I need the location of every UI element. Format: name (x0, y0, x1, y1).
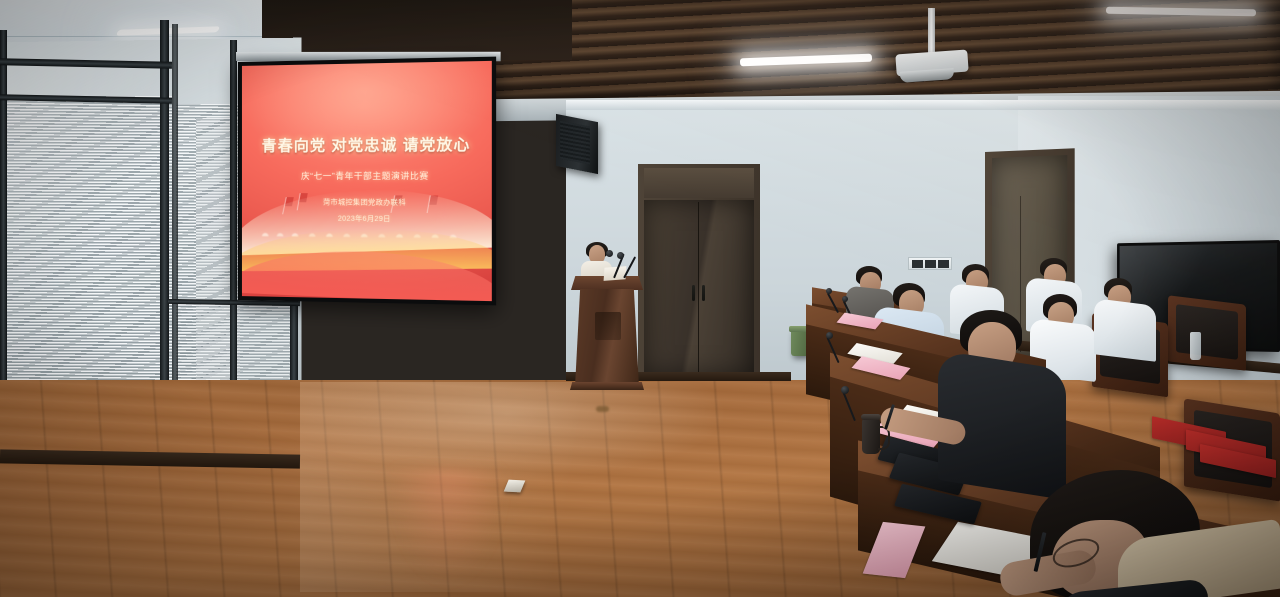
meeting-room-photo: 青春向党 对党忠诚 请党放心 庆“七一”青年干部主题演讲比赛 菏市城控集团党政办… (0, 0, 1280, 597)
projected-slide: 青春向党 对党忠诚 请党放心 庆“七一”青年干部主题演讲比赛 菏市城控集团党政办… (242, 61, 492, 301)
desk-mic-capsule-1 (826, 288, 832, 294)
podium-mic-capsule-2 (617, 252, 624, 259)
door-handle-right[interactable] (702, 285, 705, 301)
projection-screen: 青春向党 对党忠诚 请党放心 庆“七一”青年干部主题演讲比赛 菏市城控集团党政办… (238, 57, 496, 306)
door-center-seam (698, 202, 699, 374)
water-bottle (1190, 332, 1201, 360)
outlet-socket-1 (912, 260, 923, 268)
wall-top-strip (566, 100, 1280, 110)
slide-organization: 菏市城控集团党政办联科 (242, 197, 492, 208)
slide-date: 2023年6月29日 (242, 213, 492, 225)
chair-right-1-pad (1176, 304, 1238, 360)
person-8-torso (1094, 298, 1156, 362)
desk-mic-capsule-3 (826, 332, 833, 339)
slide-subtitle: 庆“七一”青年干部主题演讲比赛 (242, 169, 492, 182)
wall-speaker (556, 114, 598, 174)
podium-mic-capsule (606, 250, 613, 257)
desk-mic-capsule-2 (842, 296, 848, 302)
slide-title: 青春向党 对党忠诚 请党放心 (242, 133, 492, 156)
double-door[interactable] (644, 200, 754, 376)
door-transom (644, 168, 754, 198)
thermos-lid (861, 414, 881, 420)
podium-base (570, 382, 644, 390)
projector-mount-pole (928, 8, 935, 54)
desk-mic-capsule-4 (841, 386, 849, 394)
outlet-socket-3 (938, 260, 949, 268)
outlet-socket-2 (925, 260, 936, 268)
slide-glow (242, 61, 492, 177)
wall-outlet-plate (908, 257, 952, 270)
podium-front-panel (595, 312, 621, 340)
floor-scuff (596, 406, 609, 412)
door-handle-left[interactable] (692, 285, 695, 301)
